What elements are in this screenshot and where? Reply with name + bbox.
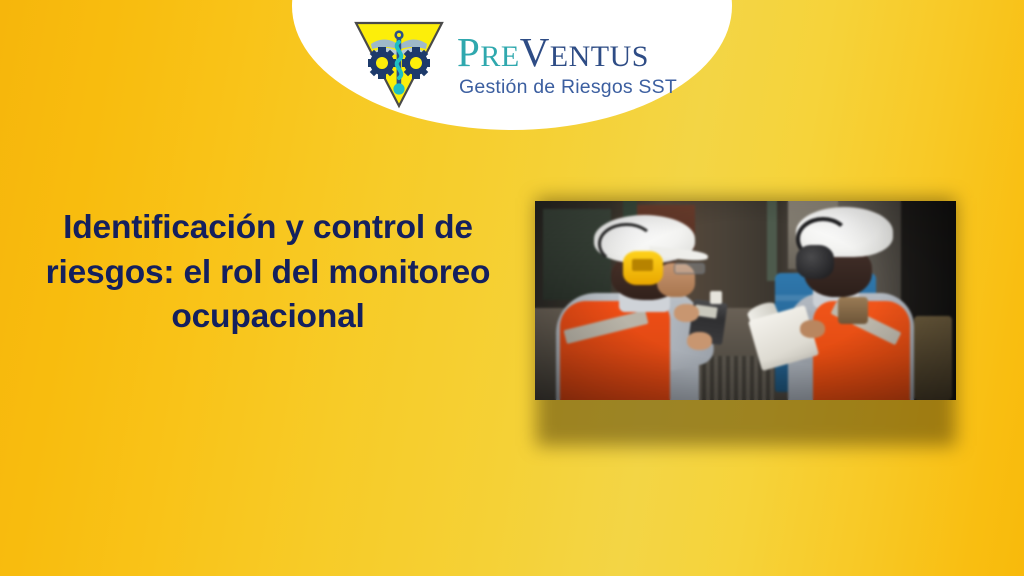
brand-tagline: Gestión de Riesgos SST [457,76,677,99]
page-title: Identificación y control de riesgos: el … [38,206,498,340]
brand-text-block: PREVENTUS Gestión de Riesgos SST [457,29,677,98]
hero-photo [535,201,956,400]
wordmark-pre: P [457,29,480,75]
wordmark-entus: ENTUS [550,40,649,73]
photo-vignette [535,201,956,400]
wordmark-re: RE [480,40,519,73]
wordmark-v: V [520,29,550,75]
preventus-logo-icon [351,18,447,110]
brand-lockup: PREVENTUS Gestión de Riesgos SST [292,0,732,128]
slide-canvas: PREVENTUS Gestión de Riesgos SST Identif… [0,0,1024,576]
brand-wordmark: PREVENTUS [457,33,649,72]
